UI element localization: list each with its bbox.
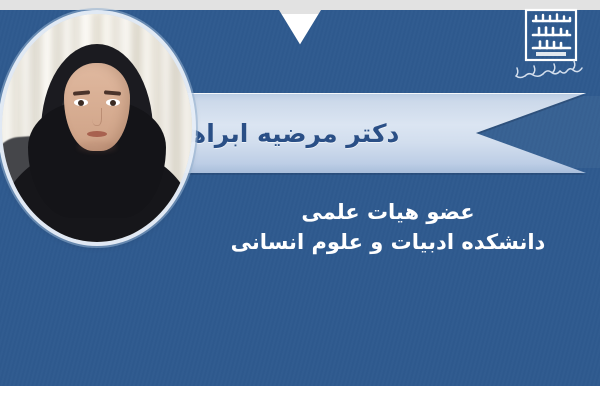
chin-shadow (77, 141, 117, 153)
face-shape (64, 63, 130, 151)
university-logo-icon (486, 8, 592, 82)
portrait-avatar (2, 14, 192, 242)
faculty-position: عضو هیات علمی (190, 198, 586, 228)
mouth-shape (87, 131, 107, 137)
eye-right (106, 99, 120, 106)
faculty-details: عضو هیات علمی دانشکده ادبیات و علوم انسا… (190, 198, 586, 258)
faculty-department: دانشکده ادبیات و علوم انسانی (190, 228, 586, 258)
eyebrow-left (73, 90, 90, 95)
eyebrow-right (104, 90, 121, 95)
nose-shape (92, 108, 102, 126)
faculty-profile-card: دکتر مرضیه ابراهیمی عضو هیات علمی دانشکد… (0, 0, 600, 400)
eye-left (74, 99, 88, 106)
university-logo (486, 8, 592, 82)
